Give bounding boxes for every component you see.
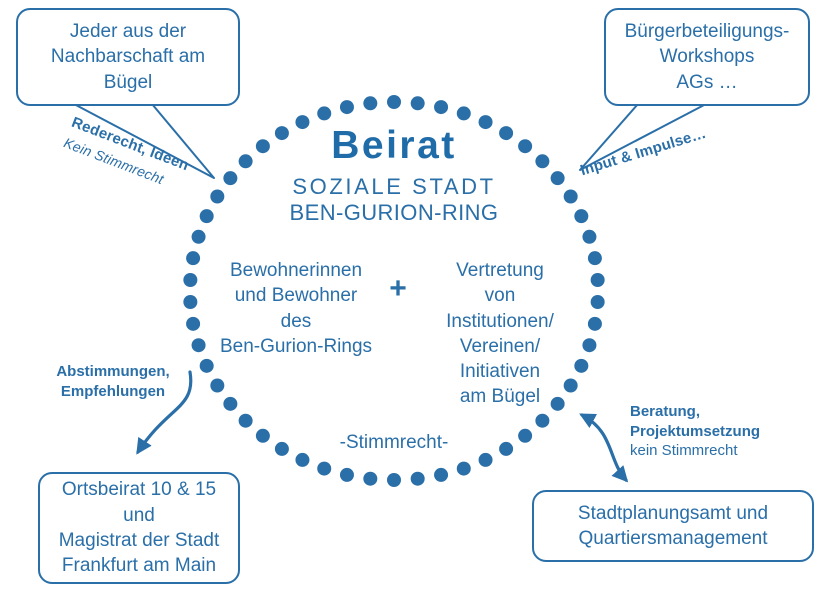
callout-ortsbeirat-line: Ortsbeirat 10 & 15 xyxy=(62,477,216,502)
callout-participation-line: AGs … xyxy=(676,70,737,95)
connector-label-abstimmungen-line: Empfehlungen xyxy=(48,382,178,402)
connector-label-beratung: Beratung, Projektumsetzung kein Stimmrec… xyxy=(630,402,760,461)
callout-stadtplanungsamt[interactable]: Stadtplanungsamt und Quartiersmanagement xyxy=(532,490,814,562)
callout-stadtplanungsamt-line: Quartiersmanagement xyxy=(578,526,767,551)
diagram-canvas: Beirat SOZIALE STADT BEN-GURION-RING Bew… xyxy=(0,0,820,600)
callout-stadtplanungsamt-line: Stadtplanungsamt und xyxy=(578,501,768,526)
callout-ortsbeirat[interactable]: Ortsbeirat 10 & 15 und Magistrat der Sta… xyxy=(38,472,240,584)
callout-neighbourhood-line: Jeder aus der xyxy=(70,19,186,44)
connector-label-abstimmungen-line: Abstimmungen, xyxy=(48,362,178,382)
callout-ortsbeirat-line: und xyxy=(123,503,155,528)
connector-label-beratung-line: kein Stimmrecht xyxy=(630,441,760,461)
callout-participation[interactable]: Bürgerbeteiligungs- Workshops AGs … xyxy=(604,8,810,106)
callout-ortsbeirat-line: Frankfurt am Main xyxy=(62,553,216,578)
connector-label-abstimmungen: Abstimmungen, Empfehlungen xyxy=(48,362,178,401)
callout-neighbourhood-line: Nachbarschaft am xyxy=(51,44,205,69)
callout-neighbourhood-line: Bügel xyxy=(104,70,153,95)
connector-label-beratung-line: Projektumsetzung xyxy=(630,422,760,442)
arrow-beratung xyxy=(582,415,626,480)
callout-participation-line: Workshops xyxy=(660,44,755,69)
callout-ortsbeirat-line: Magistrat der Stadt xyxy=(59,528,220,553)
callout-neighbourhood[interactable]: Jeder aus der Nachbarschaft am Bügel xyxy=(16,8,240,106)
callout-participation-line: Bürgerbeteiligungs- xyxy=(625,19,790,44)
connector-label-beratung-line: Beratung, xyxy=(630,402,760,422)
